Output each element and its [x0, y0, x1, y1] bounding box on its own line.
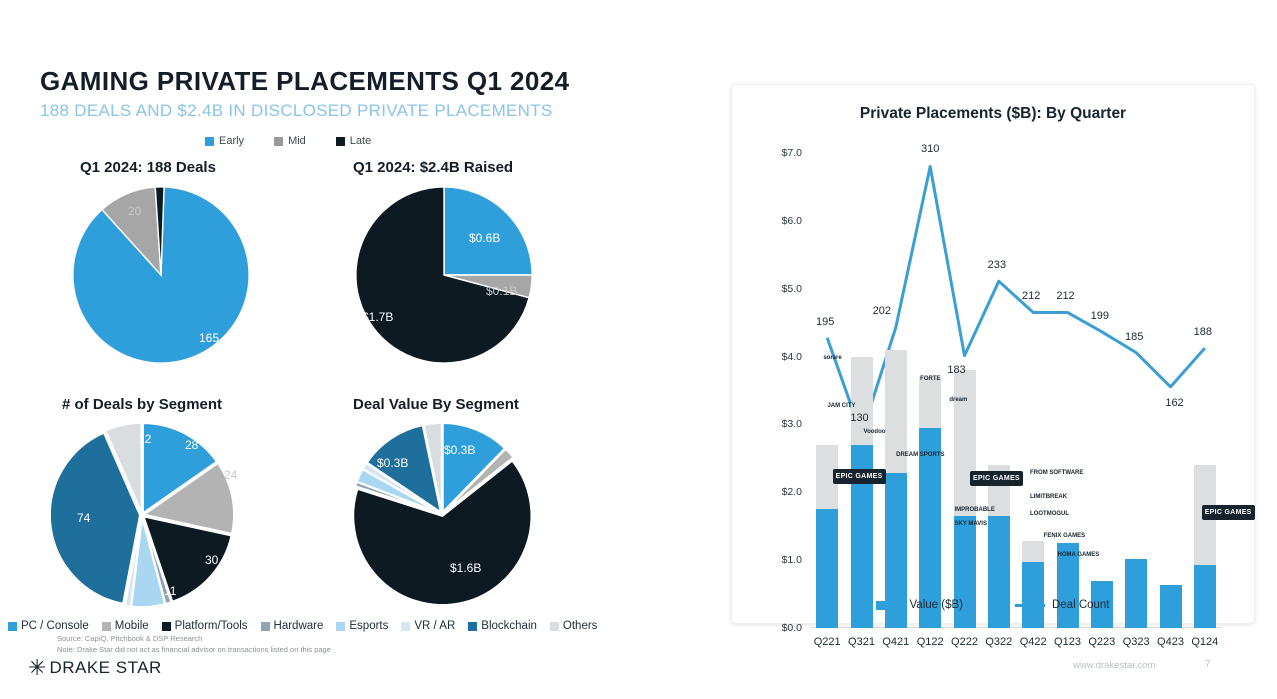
deal-count-data-label: 185 — [1125, 331, 1143, 343]
pie-slice-label-platformtools-value: $1.6B — [450, 561, 481, 575]
chart-title-deals-by-segment: # of Deals by Segment — [62, 396, 222, 413]
segment-swatch-hardware — [261, 622, 270, 631]
segment-swatch-platform-tools — [162, 622, 171, 631]
y-axis-tick-label: $3.0 — [782, 418, 802, 430]
pie-chart-deals-by-stage — [72, 186, 250, 364]
deal-logo-annotation: LIMITBREAK — [1030, 494, 1067, 500]
legend-swatch-value-bar — [876, 601, 902, 610]
segment-legend-item-esports: Esports — [336, 620, 388, 632]
deal-count-data-label: 212 — [1056, 290, 1074, 302]
segment-label-blockchain: Blockchain — [481, 620, 537, 632]
x-axis-tick-label: Q124 — [1191, 636, 1218, 648]
pie-svg-deals-by-stage — [72, 186, 250, 364]
quarterly-chart-panel: Private Placements ($B): By Quarter $0.0… — [731, 84, 1255, 624]
chart-title-deals-by-stage: Q1 2024: 188 Deals — [80, 159, 216, 176]
deal-count-line — [827, 167, 1205, 435]
deal-logo-annotation: EPIC GAMES — [833, 469, 886, 484]
segment-label-mobile: Mobile — [115, 620, 149, 632]
deal-logo-annotation: HOMA GAMES — [1058, 552, 1100, 558]
pie-chart-value-by-segment — [352, 424, 532, 604]
pie-slice-label-blockchain-deals: 74 — [77, 511, 90, 525]
deal-count-data-label: 310 — [921, 143, 939, 155]
x-axis-tick-label: Q221 — [814, 636, 841, 648]
bar-top-segment — [954, 370, 976, 516]
deal-logo-annotation: JAM CITY — [827, 403, 855, 409]
deal-count-data-label: 183 — [947, 364, 965, 376]
quarterly-chart-legend: Value ($B) Deal Count — [732, 599, 1254, 611]
legend-item-deal-count: Deal Count — [1015, 599, 1110, 611]
segment-label-others: Others — [563, 620, 598, 632]
pie-slice-label-others-deals: 12 — [138, 432, 151, 446]
bar-value — [954, 516, 976, 628]
deal-count-data-label: 212 — [1022, 290, 1040, 302]
segment-label-esports: Esports — [349, 620, 388, 632]
y-axis-tick-label: $0.0 — [782, 622, 802, 634]
segment-swatch-blockchain — [468, 622, 477, 631]
x-axis-tick-label: Q423 — [1157, 636, 1184, 648]
footer-page-number: 7 — [1205, 659, 1211, 670]
segment-label-vr-ar: VR / AR — [414, 620, 455, 632]
x-axis-tick-label: Q323 — [1123, 636, 1150, 648]
pie-slice-label-pcconsole-deals: 28 — [185, 438, 198, 452]
pie-svg-value-by-segment — [352, 424, 532, 604]
legend-label-deal-count: Deal Count — [1052, 599, 1110, 611]
legend-swatch-deal-count-line — [1015, 604, 1045, 607]
pie-slice-label-mid-value: $0.1B — [486, 284, 517, 298]
segment-legend-item-blockchain: Blockchain — [468, 620, 537, 632]
slide: GAMING PRIVATE PLACEMENTS Q1 2024 188 DE… — [0, 0, 1277, 699]
deal-logo-annotation: DREAM SPORTS — [896, 452, 944, 458]
pie-svg-value-by-stage — [355, 186, 533, 364]
segment-legend: PC / Console Mobile Platform/Tools Hardw… — [8, 620, 597, 632]
pie-slice-label-early-deals: 165 — [199, 331, 219, 345]
segment-legend-item-hardware: Hardware — [261, 620, 324, 632]
star-icon: ✳ — [28, 657, 46, 679]
page-title: GAMING PRIVATE PLACEMENTS Q1 2024 — [40, 66, 569, 97]
left-content-area: GAMING PRIVATE PLACEMENTS Q1 2024 188 DE… — [0, 0, 700, 699]
chart-title-value-by-segment: Deal Value By Segment — [353, 396, 519, 413]
deal-logo-annotation: EPIC GAMES — [1202, 505, 1255, 520]
deal-count-data-label: 162 — [1165, 397, 1183, 409]
deal-logo-annotation: dream — [949, 397, 967, 403]
bar-top-segment — [919, 377, 941, 428]
pie-slice-label-blockchain-value: $0.3B — [377, 456, 408, 470]
pie-slice-label-late-value: $1.7B — [362, 310, 393, 324]
deal-logo-annotation: FROM SOFTWARE — [1030, 470, 1083, 476]
x-axis-tick-label: Q321 — [848, 636, 875, 648]
x-axis-tick-label: Q421 — [882, 636, 909, 648]
x-axis-tick-label: Q322 — [985, 636, 1012, 648]
segment-label-platform-tools: Platform/Tools — [175, 620, 248, 632]
pie-slice-label-early-value: $0.6B — [469, 231, 500, 245]
legend-item-late: Late — [336, 135, 371, 147]
bar-value — [1022, 562, 1044, 629]
segment-legend-item-others: Others — [550, 620, 598, 632]
y-axis-tick-label: $7.0 — [782, 147, 802, 159]
segment-label-hardware: Hardware — [274, 620, 324, 632]
deal-count-data-label: 130 — [850, 412, 868, 424]
y-axis-tick-label: $6.0 — [782, 215, 802, 227]
pie-slice-label-mid-deals: 20 — [128, 204, 141, 218]
pie-chart-value-by-stage — [355, 186, 533, 364]
segment-swatch-others — [550, 622, 559, 631]
source-note: Source: CapIQ, Pitchbook & DSP Research — [57, 634, 202, 643]
y-axis-tick-label: $4.0 — [782, 351, 802, 363]
deal-logo-annotation: sorare — [823, 355, 841, 361]
deal-logo-annotation: IMPROBABLE — [955, 507, 995, 513]
legend-label-late: Late — [350, 135, 371, 147]
segment-legend-item-mobile: Mobile — [102, 620, 149, 632]
x-axis-tick-label: Q123 — [1054, 636, 1081, 648]
deal-logo-annotation: FENIX GAMES — [1044, 533, 1085, 539]
quarterly-chart-plot-area: $0.0$1.0$2.0$3.0$4.0$5.0$6.0$7.019513020… — [810, 153, 1222, 628]
footer-url: www.drakestar.com — [1073, 660, 1155, 671]
legend-swatch-mid — [274, 137, 283, 146]
bar-value — [988, 516, 1010, 628]
segment-swatch-esports — [336, 622, 345, 631]
segment-swatch-vr-ar — [401, 622, 410, 631]
segment-legend-item-platform-tools: Platform/Tools — [162, 620, 248, 632]
chart-title-value-by-stage: Q1 2024: $2.4B Raised — [353, 159, 513, 176]
deal-logo-annotation: FORTE — [920, 376, 940, 382]
x-axis-tick-label: Q422 — [1020, 636, 1047, 648]
legend-item-value: Value ($B) — [876, 599, 962, 611]
deal-logo-annotation: EPIC GAMES — [970, 471, 1023, 486]
deal-logo-annotation: SKY MAVIS — [955, 521, 987, 527]
stage-legend: Early Mid Late — [205, 135, 371, 147]
bar-value — [1194, 565, 1216, 628]
segment-legend-item-pc-console: PC / Console — [8, 620, 89, 632]
bar-value — [919, 428, 941, 628]
segment-swatch-pc-console — [8, 622, 17, 631]
legend-item-mid: Mid — [274, 135, 306, 147]
pie-slice-label-mobile-deals: 24 — [224, 468, 237, 482]
deal-count-data-label: 195 — [816, 316, 834, 328]
deal-count-data-label: 233 — [988, 259, 1006, 271]
deal-count-data-label: 199 — [1091, 310, 1109, 322]
legend-swatch-early — [205, 137, 214, 146]
x-axis-tick-label: Q223 — [1088, 636, 1115, 648]
legend-label-mid: Mid — [288, 135, 306, 147]
deal-logo-annotation: Voodoo — [864, 429, 886, 435]
legend-item-early: Early — [205, 135, 244, 147]
bar-value — [1125, 559, 1147, 628]
x-axis-tick-label: Q222 — [951, 636, 978, 648]
pie-slice-label-esports-deals: 11 — [164, 584, 176, 598]
y-axis-tick-label: $1.0 — [782, 554, 802, 566]
bar-top-segment — [1022, 541, 1044, 561]
brand-name: DRAKE STAR — [49, 658, 161, 678]
segment-legend-item-vr-ar: VR / AR — [401, 620, 455, 632]
legend-label-early: Early — [219, 135, 244, 147]
segment-swatch-mobile — [102, 622, 111, 631]
pie-slice-label-platformtools-deals: 30 — [205, 553, 218, 567]
deal-count-data-label: 202 — [873, 305, 891, 317]
legend-swatch-late — [336, 137, 345, 146]
page-subtitle: 188 DEALS AND $2.4B IN DISCLOSED PRIVATE… — [40, 101, 553, 121]
quarterly-chart-title: Private Placements ($B): By Quarter — [732, 105, 1254, 123]
deal-count-data-label: 188 — [1194, 326, 1212, 338]
y-axis-tick-label: $2.0 — [782, 486, 802, 498]
segment-label-pc-console: PC / Console — [21, 620, 89, 632]
x-axis-tick-label: Q122 — [917, 636, 944, 648]
quarterly-chart-x-axis: Q221Q321Q421Q122Q222Q322Q422Q123Q223Q323… — [810, 636, 1222, 656]
disclaimer-note: Note: Drake Star did not act as financia… — [57, 645, 331, 654]
legend-label-value: Value ($B) — [909, 599, 962, 611]
deal-logo-annotation: LOOTMOGUL — [1030, 511, 1069, 517]
pie-slice-label-pcconsole-value: $0.3B — [444, 443, 475, 457]
y-axis-tick-label: $5.0 — [782, 283, 802, 295]
drake-star-logo: ✳ DRAKE STAR — [28, 657, 162, 679]
